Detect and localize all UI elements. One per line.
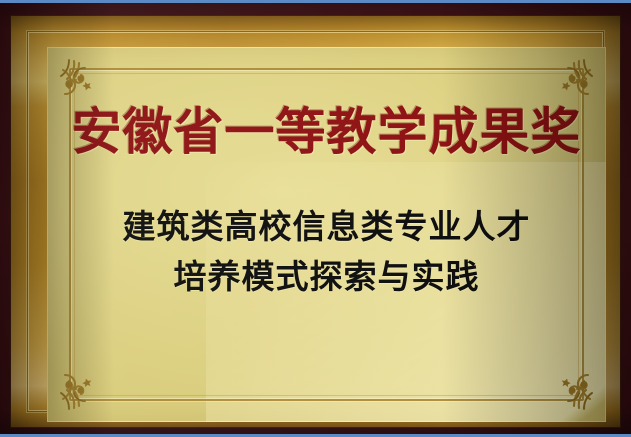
project-title-line-2: 培养模式探索与实践 <box>123 252 531 302</box>
award-plaque: 安徽省一等教学成果奖 建筑类高校信息类专业人才 培养模式探索与实践 <box>0 0 631 437</box>
award-title: 安徽省一等教学成果奖 <box>72 105 582 158</box>
plaque-inner-panel: 安徽省一等教学成果奖 建筑类高校信息类专业人才 培养模式探索与实践 <box>47 47 606 422</box>
plaque-text-content: 安徽省一等教学成果奖 建筑类高校信息类专业人才 培养模式探索与实践 <box>47 47 606 422</box>
project-title-line-1: 建筑类高校信息类专业人才 <box>123 202 531 252</box>
project-title: 建筑类高校信息类专业人才 培养模式探索与实践 <box>123 202 531 302</box>
plaque-gold-border: 安徽省一等教学成果奖 建筑类高校信息类专业人才 培养模式探索与实践 <box>11 16 620 427</box>
plaque-wood-frame: 安徽省一等教学成果奖 建筑类高校信息类专业人才 培养模式探索与实践 <box>0 3 631 434</box>
